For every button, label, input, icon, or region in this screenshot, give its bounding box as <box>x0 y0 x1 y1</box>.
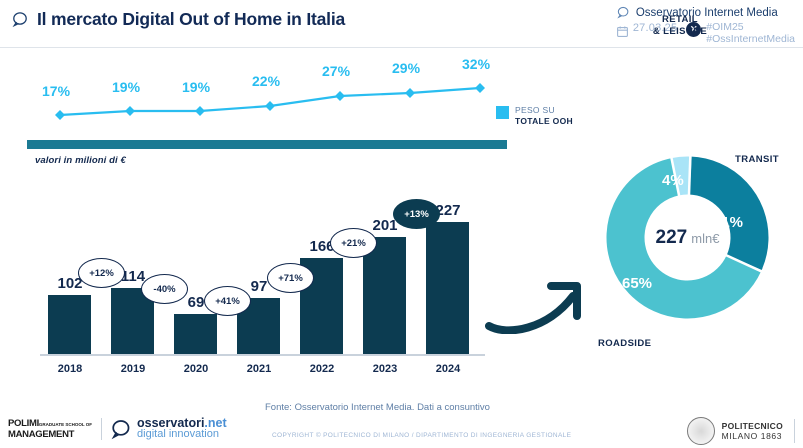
growth-bubble-2024: +13% <box>393 199 440 229</box>
growth-bubble-2023: +21% <box>330 228 377 258</box>
growth-bubble-2020: -40% <box>141 274 188 304</box>
line-label-2018: 17% <box>42 83 70 99</box>
bar-year-2018: 2018 <box>40 363 100 375</box>
line-chart-legend: PESO SU TOTALE OOH <box>496 105 573 127</box>
legend-line2: TOTALE OOH <box>515 116 573 127</box>
polimi-logo-text: POLITECNICO MILANO 1863 <box>722 421 783 441</box>
page-title: Il mercato Digital Out of Home in Italia <box>37 9 345 30</box>
chart-subcaption: valori in milioni di € <box>35 155 126 166</box>
bar-chart: 102 114 69 97 166 201 227 +12% -40% +41%… <box>40 170 490 375</box>
logo-divider <box>101 418 102 440</box>
osservatori-tagline: digital innovation <box>137 429 227 440</box>
growth-bubble-2019: +12% <box>78 258 125 288</box>
donut-label-retail-l2: & LEISURE <box>620 26 740 38</box>
donut-pct-transit: 31% <box>713 214 743 231</box>
donut-label-retail-l1: RETAIL <box>620 14 740 26</box>
title-block: Il mercato Digital Out of Home in Italia <box>12 9 345 30</box>
teal-divider-bar <box>27 140 507 149</box>
donut-chart: 227 mln€ 31% 65% 4% <box>600 150 775 325</box>
donut-total-unit: mln€ <box>691 231 719 246</box>
source-note: Fonte: Osservatorio Internet Media. Dati… <box>265 402 490 413</box>
logo-divider-right <box>794 419 795 443</box>
polimi-mgmt-line2: MANAGEMENT <box>8 430 92 440</box>
curved-arrow-icon <box>485 272 590 339</box>
bar-2018 <box>48 295 91 354</box>
bar-year-2019: 2019 <box>103 363 163 375</box>
line-chart-svg <box>34 58 494 136</box>
donut-label-transit: TRANSIT <box>735 154 779 166</box>
line-label-2024: 32% <box>462 56 490 72</box>
polimi-line2: MILANO 1863 <box>722 431 783 441</box>
growth-bubble-2022: +71% <box>267 263 314 293</box>
bar-year-2020: 2020 <box>166 363 226 375</box>
polimi-seal-icon <box>687 417 715 445</box>
bar-year-2024: 2024 <box>418 363 478 375</box>
polimi-mgmt-line1: POLIMI <box>8 418 39 429</box>
donut-total-value: 227 <box>656 227 688 249</box>
bar-year-2023: 2023 <box>355 363 415 375</box>
donut-label-roadside: ROADSIDE <box>598 338 651 350</box>
polimi-line1: POLITECNICO <box>722 421 783 431</box>
line-label-2020: 19% <box>182 79 210 95</box>
speech-bubble-icon <box>111 419 132 440</box>
bar-2020 <box>174 314 217 354</box>
growth-bubble-2021: +41% <box>204 286 251 316</box>
footer-logos-left: POLIMIGRADUATE SCHOOL OF MANAGEMENT osse… <box>8 418 227 440</box>
bar-year-2022: 2022 <box>292 363 352 375</box>
donut-pct-roadside: 65% <box>622 275 652 292</box>
header-divider <box>0 47 803 48</box>
bar-2023 <box>363 237 406 354</box>
line-label-2021: 22% <box>252 73 280 89</box>
legend-line1: PESO SU <box>515 105 573 116</box>
bar-chart-axis <box>40 354 485 356</box>
copyright-note: COPYRIGHT © POLITECNICO DI MILANO / DIPA… <box>272 432 571 439</box>
footer-logo-right: POLITECNICO MILANO 1863 <box>687 417 795 445</box>
legend-swatch <box>496 106 509 119</box>
osservatori-logo[interactable]: osservatori.net digital innovation <box>111 418 227 440</box>
donut-label-retail: RETAIL & LEISURE <box>620 14 740 38</box>
line-label-2023: 29% <box>392 60 420 76</box>
line-label-2019: 19% <box>112 79 140 95</box>
donut-center-label: 227 mln€ <box>600 150 775 325</box>
line-label-2022: 27% <box>322 63 350 79</box>
bar-year-2021: 2021 <box>229 363 289 375</box>
legend-text: PESO SU TOTALE OOH <box>515 105 573 127</box>
donut-pct-retail: 4% <box>662 172 684 189</box>
polimi-management-logo: POLIMIGRADUATE SCHOOL OF MANAGEMENT <box>8 419 92 440</box>
bar-2024 <box>426 222 469 354</box>
speech-bubble-icon <box>12 11 29 28</box>
polimi-mgmt-small: GRADUATE SCHOOL OF <box>39 422 92 427</box>
line-chart: 17% 19% 19% 22% 27% 29% 32% <box>34 58 494 136</box>
